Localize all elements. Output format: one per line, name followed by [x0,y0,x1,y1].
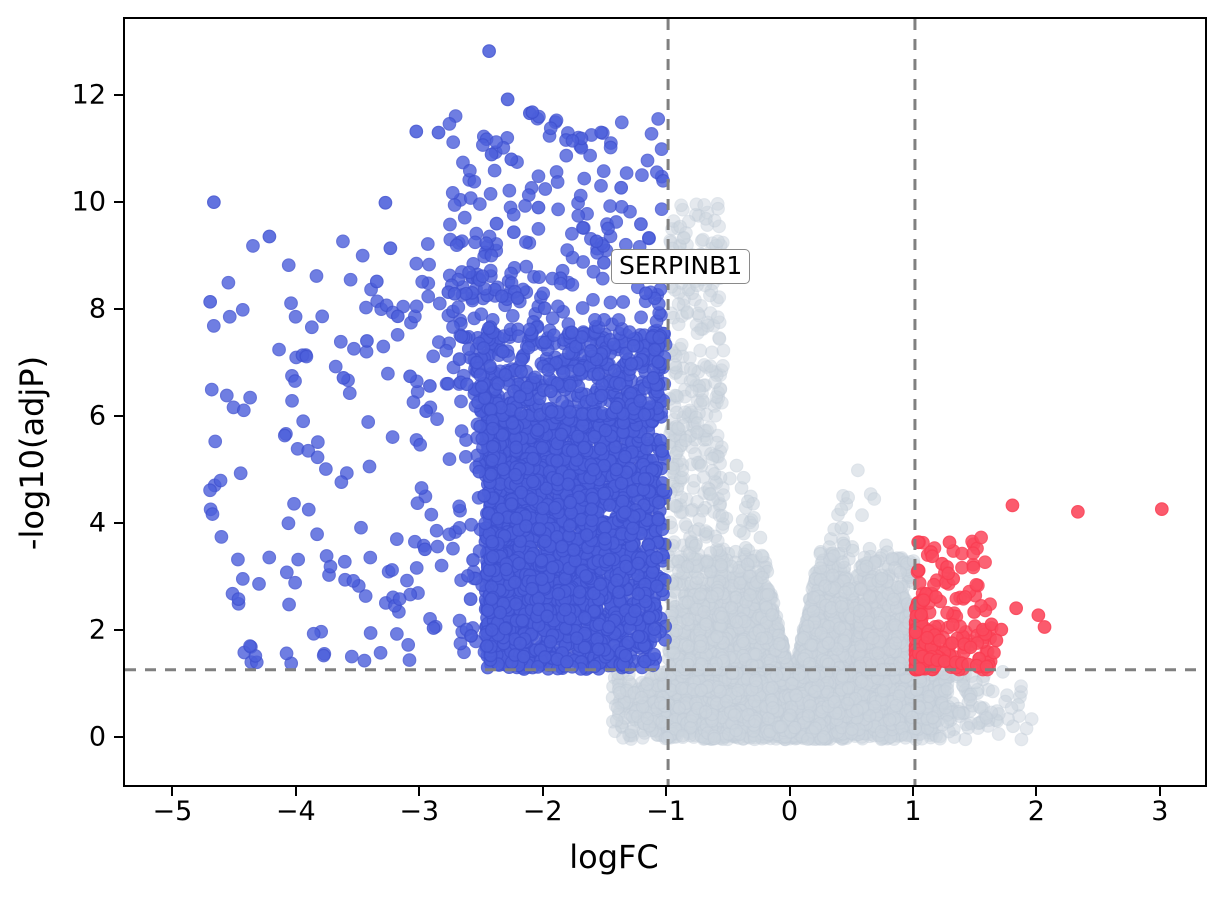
y-tick-label-1: 2 [89,617,106,644]
points-down-regulated [204,45,672,675]
y-tick-label-0: 0 [89,724,106,751]
x-tick-label-8: 3 [1151,798,1168,825]
y-tick-6 [114,94,123,96]
x-tick-2 [418,787,420,796]
y-tick-0 [114,736,123,738]
x-tick-label-2: −3 [399,798,439,825]
y-tick-label-3: 6 [89,403,106,430]
gene-annotation-serpinb1: SERPINB1 [611,249,750,284]
x-tick-0 [171,787,173,796]
y-tick-3 [114,415,123,417]
x-tick-label-3: −2 [523,798,563,825]
x-tick-1 [295,787,297,796]
x-tick-label-4: −1 [646,798,686,825]
y-tick-label-4: 8 [89,295,106,322]
x-tick-label-7: 2 [1028,798,1045,825]
y-tick-label-6: 12 [72,81,106,108]
x-tick-8 [1159,787,1161,796]
x-tick-5 [789,787,791,796]
x-tick-7 [1035,787,1037,796]
y-tick-label-5: 10 [72,188,106,215]
y-tick-2 [114,522,123,524]
scatter-canvas [125,19,1205,785]
y-tick-4 [114,308,123,310]
x-axis-label: logFC [0,838,1228,876]
x-tick-label-1: −4 [276,798,316,825]
y-tick-label-2: 4 [89,510,106,537]
x-tick-3 [542,787,544,796]
x-tick-label-5: 0 [781,798,798,825]
volcano-plot-figure: SERPINB1 −5−4−3−2−10123 024681012 logFC … [0,0,1228,906]
y-axis-label: -log10(adjP) [13,243,55,663]
x-tick-4 [665,787,667,796]
y-tick-1 [114,629,123,631]
y-tick-5 [114,201,123,203]
plot-area [123,17,1207,787]
x-tick-label-0: −5 [152,798,192,825]
x-tick-6 [912,787,914,796]
points-up-regulated [909,499,1168,676]
x-tick-label-6: 1 [904,798,921,825]
